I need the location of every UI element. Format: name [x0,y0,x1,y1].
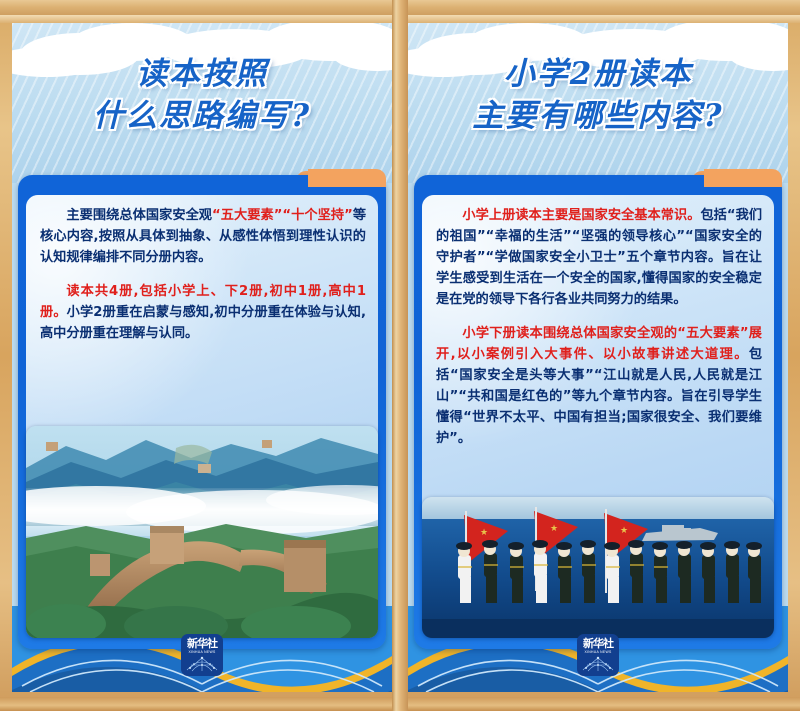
network-globe-icon-right [581,656,615,672]
xinhua-logo-en-right: XINHUA NEWS [584,650,611,654]
panel-title-left-line2: 什么思路编写? [12,95,392,137]
svg-text:★: ★ [480,527,488,537]
content-card-left: 主要围绕总体国家安全观“五大要素”“十个坚持”等核心内容,按照从具体到抽象、从感… [18,171,386,649]
poster: 读本按照 什么思路编写? 主要围绕总体国家安全观“五大要素”“十个坚持”等核心内… [0,0,800,711]
highlighted-text: 小学上册读本主要是国家安全基本常识。 [462,208,700,223]
xinhua-logo-right: 新华社 XINHUA NEWS [577,634,619,676]
body-text-right: 小学上册读本主要是国家安全基本常识。包括“我们的祖国”“幸福的生活”“坚强的领导… [436,205,762,462]
content-card-right: 小学上册读本主要是国家安全基本常识。包括“我们的祖国”“幸福的生活”“坚强的领导… [414,171,782,649]
xinhua-logo-en-left: XINHUA NEWS [188,650,215,654]
xinhua-logo-cn-right: 新华社 [583,638,613,649]
panel-right: 小学2册读本 主要有哪些内容? 小学上册读本主要是国家安全基本常识。包括“我们的… [408,23,788,692]
photo-great-wall [26,426,378,638]
panel-title-left: 读本按照 什么思路编写? [12,53,392,137]
highlighted-text: 小学下册读本围绕总体国家安全观的“五大要素”展开,以小案例引入大事件、以小故事讲… [436,326,762,362]
xinhua-logo-cn-left: 新华社 [187,638,217,649]
svg-text:★: ★ [620,525,628,535]
paragraph: 小学上册读本主要是国家安全基本常识。包括“我们的祖国”“幸福的生活”“坚强的领导… [436,205,762,310]
body-text-run: 主要围绕总体国家安全观 [66,208,212,223]
panel-title-right-line1: 小学2册读本 [408,53,788,95]
panel-title-right: 小学2册读本 主要有哪些内容? [408,53,788,137]
highlighted-text: “五大要素”“十个坚持” [212,208,353,223]
panel-left: 读本按照 什么思路编写? 主要围绕总体国家安全观“五大要素”“十个坚持”等核心内… [12,23,392,692]
body-text-left: 主要围绕总体国家安全观“五大要素”“十个坚持”等核心内容,按照从具体到抽象、从感… [40,205,366,357]
paragraph: 主要围绕总体国家安全观“五大要素”“十个坚持”等核心内容,按照从具体到抽象、从感… [40,205,366,268]
svg-text:★: ★ [550,523,558,533]
photo-honor-guard: ★★★ [422,497,774,638]
paragraph: 读本共4册,包括小学上、下2册,初中1册,高中1册。小学2册重在启蒙与感知,初中… [40,281,366,344]
panel-title-left-line1: 读本按照 [12,53,392,95]
xinhua-logo-left: 新华社 XINHUA NEWS [181,634,223,676]
body-text-run: 小学2册重在启蒙与感知,初中分册重在体验与认知,高中分册重在理解与认同。 [40,305,366,341]
network-globe-icon-left [185,656,219,672]
paragraph: 小学下册读本围绕总体国家安全观的“五大要素”展开,以小案例引入大事件、以小故事讲… [436,323,762,449]
panel-divider [392,0,408,711]
panel-title-right-line2: 主要有哪些内容? [408,95,788,137]
